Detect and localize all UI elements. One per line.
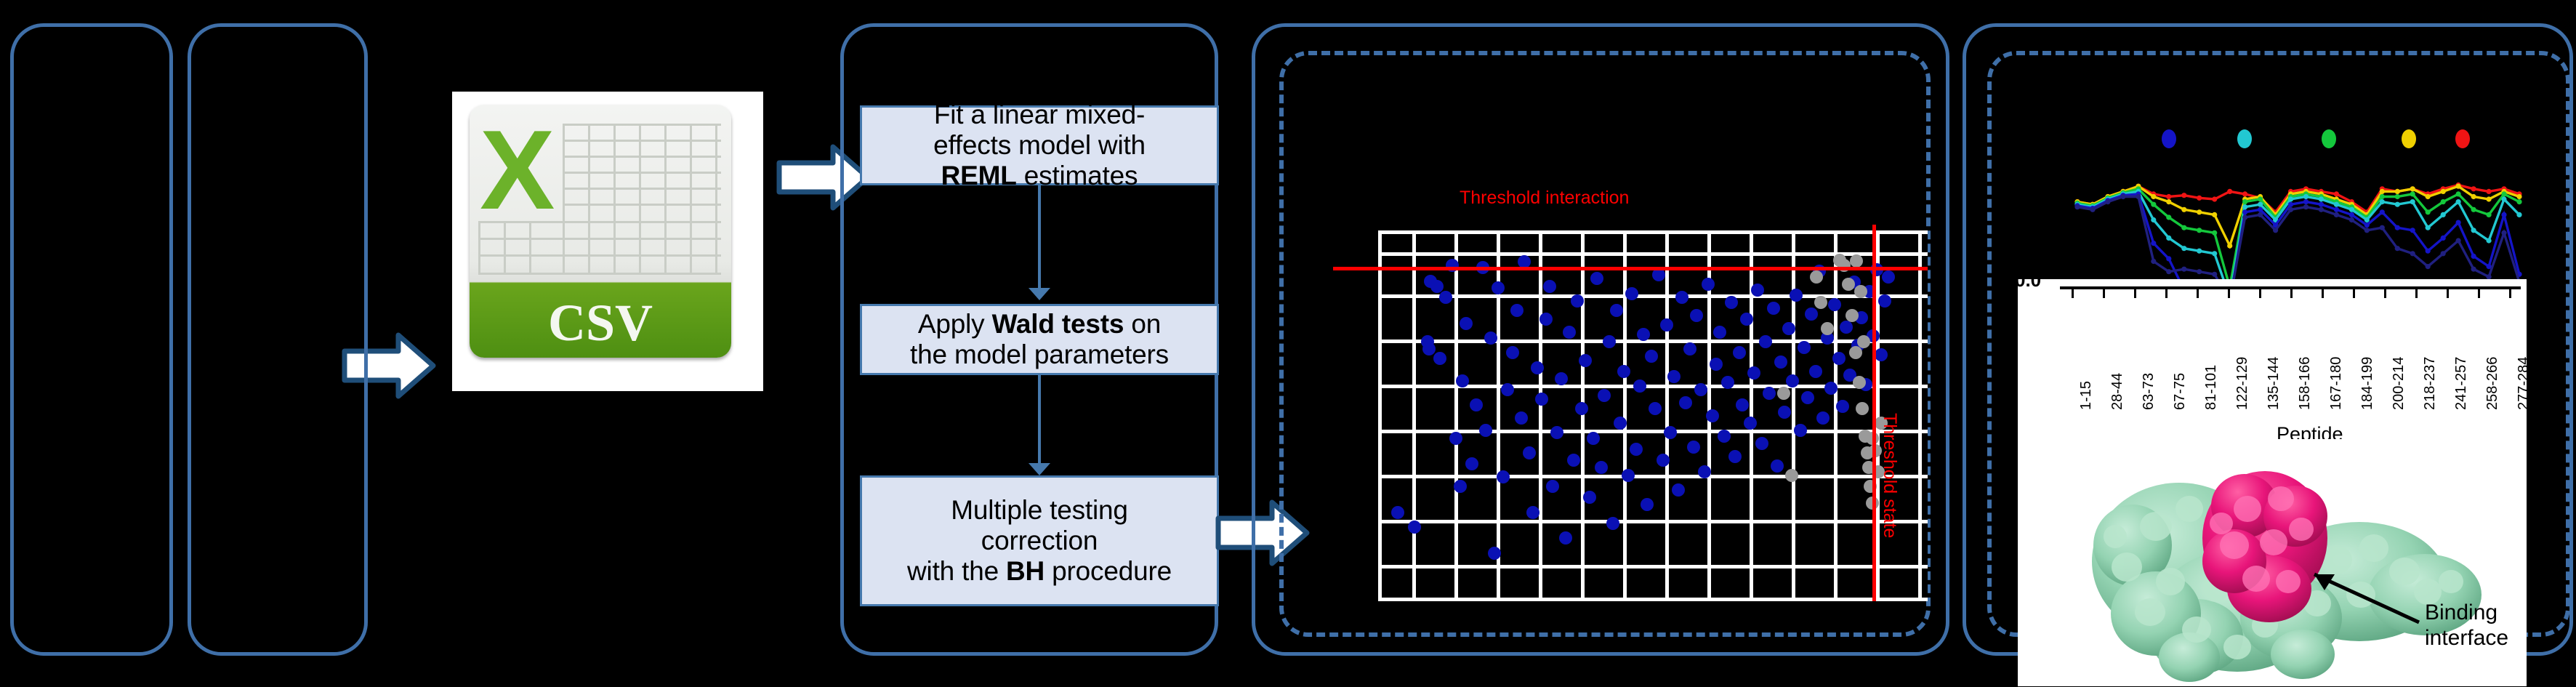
scatter-point-significant	[1456, 374, 1469, 387]
scatter-point-significant	[1391, 506, 1404, 519]
peptide-marker	[2273, 228, 2278, 233]
peptide-tick-label: 277-284	[2516, 357, 2527, 410]
scatter-point-significant	[1805, 308, 1818, 321]
peptide-marker	[2471, 228, 2476, 233]
scatter-point-significant	[1740, 313, 1753, 326]
process-box-wald[interactable]: Apply Wald tests on the model parameters	[860, 304, 1219, 375]
peptide-marker	[2395, 194, 2400, 199]
scatter-point-significant	[1667, 370, 1681, 383]
peptide-tick-mark	[2478, 288, 2480, 298]
peptide-marker	[2242, 214, 2247, 220]
peptide-tick-label: 67-75	[2172, 373, 2189, 410]
scatter-point-significant	[1539, 313, 1553, 326]
peptide-marker	[2456, 184, 2461, 189]
scatter-point-significant	[1641, 498, 1654, 511]
scatter-point-significant	[1798, 341, 1811, 354]
bh-line-3-head: with the	[907, 556, 1006, 586]
scatter-point-significant	[1531, 361, 1544, 374]
peptide-marker	[2151, 202, 2156, 207]
peptide-marker	[2364, 217, 2370, 222]
scatter-point-significant	[1583, 491, 1596, 504]
peptide-marker	[2410, 228, 2415, 233]
scatter-point-significant	[1690, 309, 1703, 322]
peptide-marker	[2441, 212, 2446, 217]
scatter-point-nonsignificant	[1857, 335, 1870, 348]
peptide-marker	[2456, 191, 2461, 196]
peptide-y-axis-tick: 0.0	[2018, 279, 2041, 292]
scatter-point-significant	[1657, 454, 1670, 467]
peptide-marker	[2334, 212, 2339, 217]
wald-line-1-head: Apply	[918, 309, 992, 339]
peptide-marker	[2242, 191, 2247, 196]
bh-line-1: Multiple testing	[951, 495, 1128, 525]
peptide-marker	[2334, 191, 2339, 196]
scatter-point-nonsignificant	[1777, 387, 1790, 400]
threshold-interaction-label: Threshold interaction	[1460, 188, 1629, 209]
bh-line-2: correction	[981, 526, 1098, 555]
peptide-marker	[2227, 189, 2232, 194]
peptide-marker	[2319, 207, 2324, 212]
peptide-marker	[2501, 230, 2506, 236]
scatter-point-significant	[1649, 402, 1662, 415]
peptide-marker	[2258, 207, 2263, 212]
scatter-point-significant	[1590, 272, 1603, 285]
peptide-marker	[2227, 244, 2232, 249]
peptide-tick-mark	[2165, 288, 2168, 298]
peptide-marker	[2212, 196, 2217, 201]
peptide-tick-mark	[2353, 288, 2355, 298]
scatter-point-significant	[1422, 342, 1436, 355]
peptide-marker	[2105, 199, 2110, 204]
csv-x-glyph: X	[480, 113, 555, 226]
bh-keyword: BH	[1006, 556, 1045, 586]
reml-line-1: Fit a linear mixed-	[934, 100, 1145, 129]
peptide-tick-label: 81-101	[2203, 365, 2220, 410]
peptide-marker	[2212, 230, 2217, 236]
scatter-point-significant	[1672, 483, 1685, 497]
scatter-point-significant	[1824, 382, 1838, 395]
scatter-point-significant	[1832, 352, 1846, 365]
scatter-point-significant	[1454, 480, 1467, 493]
peptide-marker	[2516, 199, 2521, 204]
peptide-tick-mark	[2384, 288, 2386, 298]
peptide-tick-label: 167-180	[2328, 357, 2345, 410]
scatter-point-significant	[1510, 304, 1524, 317]
scatter-point-significant	[1816, 411, 1830, 425]
peptide-marker	[2166, 214, 2171, 220]
peptide-marker	[2258, 196, 2263, 201]
scatter-point-significant	[1614, 417, 1627, 430]
peptide-tick-label: 1-15	[2078, 381, 2095, 410]
peptide-tick-label: 200-214	[2391, 357, 2407, 410]
scatter-point-significant	[1679, 396, 1692, 409]
peptide-marker	[2471, 254, 2476, 259]
peptide-marker	[2395, 225, 2400, 230]
peptide-tick-label: 218-237	[2422, 357, 2439, 410]
scatter-point-significant	[1675, 291, 1689, 304]
peptide-marker	[2303, 194, 2309, 199]
peptide-marker	[2288, 202, 2293, 207]
scatter-point-significant	[1840, 321, 1853, 334]
scatter-point-significant	[1755, 437, 1768, 450]
csv-caption: CSV	[470, 293, 731, 353]
scatter-point-significant	[1721, 376, 1734, 389]
peptide-marker	[2197, 249, 2202, 254]
scatter-point-significant	[1828, 298, 1841, 311]
scatter-point-significant	[1763, 387, 1776, 400]
scatter-point-significant	[1878, 294, 1891, 308]
scatter-point-significant	[1595, 461, 1608, 474]
wald-line-2: the model parameters	[910, 340, 1169, 369]
peptide-marker	[2181, 246, 2186, 251]
peptide-marker	[2426, 225, 2431, 230]
peptide-marker	[2319, 202, 2324, 207]
peptide-marker	[2426, 249, 2431, 254]
peptide-tick-mark	[2259, 288, 2261, 298]
peptide-tick-mark	[2322, 288, 2324, 298]
peptide-marker	[2258, 212, 2263, 217]
peptide-tick-label: 184-199	[2359, 357, 2376, 410]
peptide-marker	[2364, 228, 2370, 233]
peptide-marker	[2319, 196, 2324, 201]
peptide-marker	[2441, 251, 2446, 256]
peptide-marker	[2151, 194, 2156, 199]
peptide-marker	[2487, 238, 2492, 243]
reml-line-3-tail: estimates	[1017, 161, 1138, 190]
peptide-marker	[2487, 189, 2492, 194]
peptide-marker	[2166, 194, 2171, 199]
peptide-marker	[2349, 207, 2354, 212]
peptide-marker	[2471, 207, 2476, 212]
scatter-point-significant	[1506, 346, 1519, 359]
scatter-point-significant	[1575, 402, 1588, 415]
scatter-point-significant	[1567, 454, 1580, 467]
scatter-point-significant	[1488, 547, 1501, 560]
peptide-marker	[2501, 191, 2506, 196]
peptide-marker	[2380, 199, 2385, 204]
peptide-marker	[2166, 256, 2171, 261]
peptide-marker	[2456, 238, 2461, 243]
peptide-marker	[2410, 251, 2415, 256]
scatter-point-significant	[1555, 372, 1568, 385]
threshold-state-line	[1872, 225, 1876, 601]
reml-keyword: REML	[941, 161, 1017, 190]
scatter-point-significant	[1546, 480, 1559, 493]
peptide-marker	[2136, 194, 2141, 199]
peptide-tick-mark	[2103, 288, 2105, 298]
scatter-point-significant	[1515, 411, 1528, 425]
scatter-point-significant	[1698, 465, 1711, 478]
peptide-marker	[2395, 189, 2400, 194]
peptide-marker	[2197, 209, 2202, 214]
peptide-marker	[2303, 199, 2309, 204]
connector-reml-to-wald	[1038, 185, 1041, 292]
peptide-tick-mark	[2447, 288, 2449, 298]
peptide-marker	[2288, 207, 2293, 212]
peptide-marker	[2487, 196, 2492, 201]
scatter-point-significant	[1535, 393, 1548, 406]
peptide-marker	[2349, 212, 2354, 217]
peptide-marker	[2181, 207, 2186, 212]
scatter-point-significant	[1633, 379, 1646, 393]
peptide-marker	[2166, 236, 2171, 241]
threshold-interaction-line	[1333, 267, 1928, 270]
scatter-point-significant	[1794, 424, 1807, 437]
scatter-point-significant	[1492, 281, 1505, 294]
connector-arrowhead-1	[1029, 288, 1050, 300]
peptide-marker	[2426, 264, 2431, 269]
scatter-point-significant	[1728, 450, 1742, 463]
scatter-point-nonsignificant	[1856, 402, 1869, 415]
input-stage	[10, 23, 173, 656]
scatter-point-nonsignificant	[1854, 285, 1867, 298]
scatter-point-significant	[1598, 389, 1611, 402]
scatter-point-significant	[1759, 335, 1772, 348]
scatter-point-nonsignificant	[1842, 278, 1855, 291]
scatter-point-significant	[1875, 348, 1888, 361]
peptide-marker	[2426, 194, 2431, 199]
peptide-tick-label: 63-73	[2141, 373, 2157, 410]
peptide-marker	[2166, 269, 2171, 274]
peptide-marker	[2181, 193, 2186, 198]
scatter-point-significant	[1751, 284, 1764, 297]
scatter-point-nonsignificant	[1853, 376, 1866, 389]
peptide-marker	[2395, 202, 2400, 207]
scatter-point-significant	[1550, 426, 1563, 439]
peptide-marker	[2288, 196, 2293, 201]
scatter-point-significant	[1664, 426, 1677, 439]
protein-surface-structure: Binding interface	[2047, 439, 2527, 686]
peptide-marker	[2441, 199, 2446, 204]
scatter-point-significant	[1479, 424, 1492, 437]
binding-interface-line-2: interface	[2425, 626, 2508, 651]
scatter-point-nonsignificant	[1785, 469, 1798, 482]
bh-line-3-tail: procedure	[1045, 556, 1172, 586]
scatter-point-significant	[1563, 326, 1576, 339]
peptide-marker	[2334, 202, 2339, 207]
peptide-marker	[2471, 194, 2476, 199]
peptide-tick-mark	[2072, 288, 2074, 298]
peptide-marker	[2090, 207, 2095, 212]
volcano-plot	[1378, 230, 1928, 601]
threshold-state-label: Threshold state	[1879, 413, 1900, 538]
peptide-marker	[2441, 189, 2446, 194]
reml-line-2: effects model with	[933, 130, 1146, 160]
peptide-marker	[2501, 212, 2506, 217]
connector-arrowhead-2	[1029, 463, 1050, 475]
scatter-point-significant	[1736, 398, 1749, 411]
peptide-marker	[2410, 199, 2415, 204]
peptide-tick-mark	[2415, 288, 2418, 298]
peptide-tick-mark	[2197, 288, 2199, 298]
scatter-point-significant	[1660, 318, 1673, 332]
scatter-point-significant	[1579, 354, 1592, 367]
peptide-marker	[2380, 225, 2385, 230]
peptide-marker	[2212, 272, 2217, 277]
scatter-point-nonsignificant	[1846, 309, 1859, 322]
process-box-reml[interactable]: Fit a linear mixed- effects model with R…	[860, 105, 1219, 185]
peptide-marker	[2197, 228, 2202, 233]
scatter-point-significant	[1460, 317, 1473, 330]
scatter-point-significant	[1559, 531, 1572, 545]
peptide-marker	[2501, 196, 2506, 201]
scatter-point-significant	[1433, 352, 1446, 365]
scatter-point-significant	[1767, 302, 1780, 315]
scatter-point-significant	[1725, 296, 1738, 309]
data-stage	[188, 23, 368, 656]
scatter-point-significant	[1790, 289, 1803, 302]
peptide-marker	[2303, 204, 2309, 209]
peptide-marker	[2349, 217, 2354, 222]
peptide-tick-mark	[2134, 288, 2136, 298]
scatter-point-significant	[1778, 406, 1791, 419]
peptide-marker	[2334, 207, 2339, 212]
wald-keyword: Wald tests	[992, 309, 1124, 339]
peptide-axis-card: 0.0 1-1528-4463-7367-7581-101122-129135-…	[2018, 279, 2527, 686]
scatter-point-significant	[1484, 332, 1497, 345]
scatter-point-significant	[1683, 342, 1696, 355]
scatter-point-significant	[1786, 374, 1799, 387]
wald-line-1-tail: on	[1124, 309, 1161, 339]
csv-file-icon: X CSV	[452, 92, 763, 391]
peptide-marker	[2456, 199, 2461, 204]
scatter-point-significant	[1625, 287, 1638, 300]
peptide-tick-label: 28-44	[2109, 373, 2126, 410]
peptide-marker	[2410, 186, 2415, 191]
scatter-point-significant	[1606, 517, 1619, 530]
scatter-point-significant	[1523, 446, 1536, 459]
scatter-point-significant	[1610, 304, 1623, 317]
peptide-marker	[2380, 209, 2385, 214]
scatter-point-significant	[1501, 383, 1514, 396]
peptide-marker	[2471, 267, 2476, 272]
peptide-marker	[2516, 212, 2521, 217]
scatter-point-significant	[1587, 432, 1600, 445]
peptide-marker	[2426, 209, 2431, 214]
scatter-point-significant	[1747, 366, 1760, 379]
peptide-marker	[2166, 199, 2171, 204]
scatter-point-significant	[1718, 430, 1731, 443]
peptide-marker	[2151, 241, 2156, 246]
scatter-point-significant	[1744, 417, 1757, 430]
scatter-point-significant	[1630, 443, 1643, 456]
scatter-point-significant	[1543, 280, 1556, 293]
scatter-point-significant	[1439, 291, 1452, 304]
peptide-tick-mark	[2228, 288, 2230, 298]
peptide-marker	[2380, 194, 2385, 199]
scatter-point-significant	[1430, 280, 1444, 293]
scatter-point-significant	[1622, 469, 1635, 482]
peptide-marker	[2516, 194, 2521, 199]
peptide-marker	[2212, 212, 2217, 217]
peptide-marker	[2242, 204, 2247, 209]
scatter-point-significant	[1713, 326, 1726, 339]
scatter-point-significant	[1687, 441, 1700, 454]
peptide-marker	[2242, 209, 2247, 214]
peptide-marker	[2258, 202, 2263, 207]
peptide-tick-mark	[2290, 288, 2293, 298]
scatter-point-significant	[1733, 346, 1746, 359]
scatter-point-significant	[1497, 470, 1510, 483]
peptide-marker	[2242, 199, 2247, 204]
scatter-point-nonsignificant	[1814, 296, 1827, 309]
peptide-marker	[2380, 189, 2385, 194]
peptide-marker	[2487, 212, 2492, 217]
peptide-tick-label: 158-166	[2297, 357, 2314, 410]
peptide-tick-mark	[2509, 288, 2511, 298]
scatter-point-significant	[1526, 506, 1539, 519]
binding-interface-line-1: Binding	[2425, 600, 2508, 626]
peptide-marker	[2212, 251, 2217, 256]
peptide-marker	[2074, 204, 2080, 209]
peptide-tick-label: 258-266	[2484, 357, 2501, 410]
peptide-tick-label: 241-257	[2453, 357, 2470, 410]
scatter-point-significant	[1702, 278, 1715, 291]
scatter-point-significant	[1617, 365, 1630, 378]
peptide-marker	[2410, 191, 2415, 196]
process-box-bh[interactable]: Multiple testing correction with the BH …	[860, 475, 1219, 606]
scatter-point-significant	[1774, 355, 1787, 369]
scatter-point-significant	[1571, 294, 1584, 308]
scatter-point-significant	[1882, 270, 1895, 284]
scatter-point-nonsignificant	[1850, 254, 1863, 268]
scatter-point-significant	[1645, 350, 1658, 363]
scatter-point-nonsignificant	[1810, 270, 1823, 284]
scatter-point-nonsignificant	[1849, 346, 1862, 359]
connector-wald-to-bh	[1038, 375, 1041, 467]
peptide-marker	[2120, 194, 2125, 199]
peptide-marker	[2471, 186, 2476, 191]
peptide-marker	[2181, 225, 2186, 230]
scatter-point-significant	[1782, 322, 1795, 335]
peptide-marker	[2197, 269, 2202, 274]
scatter-point-significant	[1603, 335, 1616, 348]
peptide-tick-label: 135-144	[2266, 357, 2282, 410]
scatter-point-significant	[1465, 457, 1478, 470]
peptide-marker	[2364, 222, 2370, 228]
scatter-point-significant	[1836, 400, 1849, 413]
scatter-point-significant	[1710, 358, 1723, 371]
binding-interface-label: Binding interface	[2425, 600, 2508, 651]
scatter-point-significant	[1449, 432, 1462, 445]
scatter-point-significant	[1637, 328, 1650, 341]
peptide-marker	[2181, 267, 2186, 272]
peptide-tick-label: 122-129	[2234, 357, 2251, 410]
scatter-point-significant	[1408, 521, 1421, 534]
scatter-point-significant	[1801, 391, 1814, 404]
peptide-marker	[2197, 196, 2202, 201]
scatter-point-significant	[1470, 398, 1483, 411]
scatter-point-significant	[1771, 459, 1784, 473]
peptide-marker	[2441, 236, 2446, 241]
peptide-marker	[2395, 246, 2400, 251]
scatter-point-significant	[1694, 383, 1707, 396]
peptide-marker	[2456, 220, 2461, 225]
scatter-point-significant	[1809, 365, 1822, 378]
peptide-marker	[2151, 217, 2156, 222]
scatter-point-significant	[1706, 409, 1719, 422]
peptide-marker	[2151, 259, 2156, 264]
